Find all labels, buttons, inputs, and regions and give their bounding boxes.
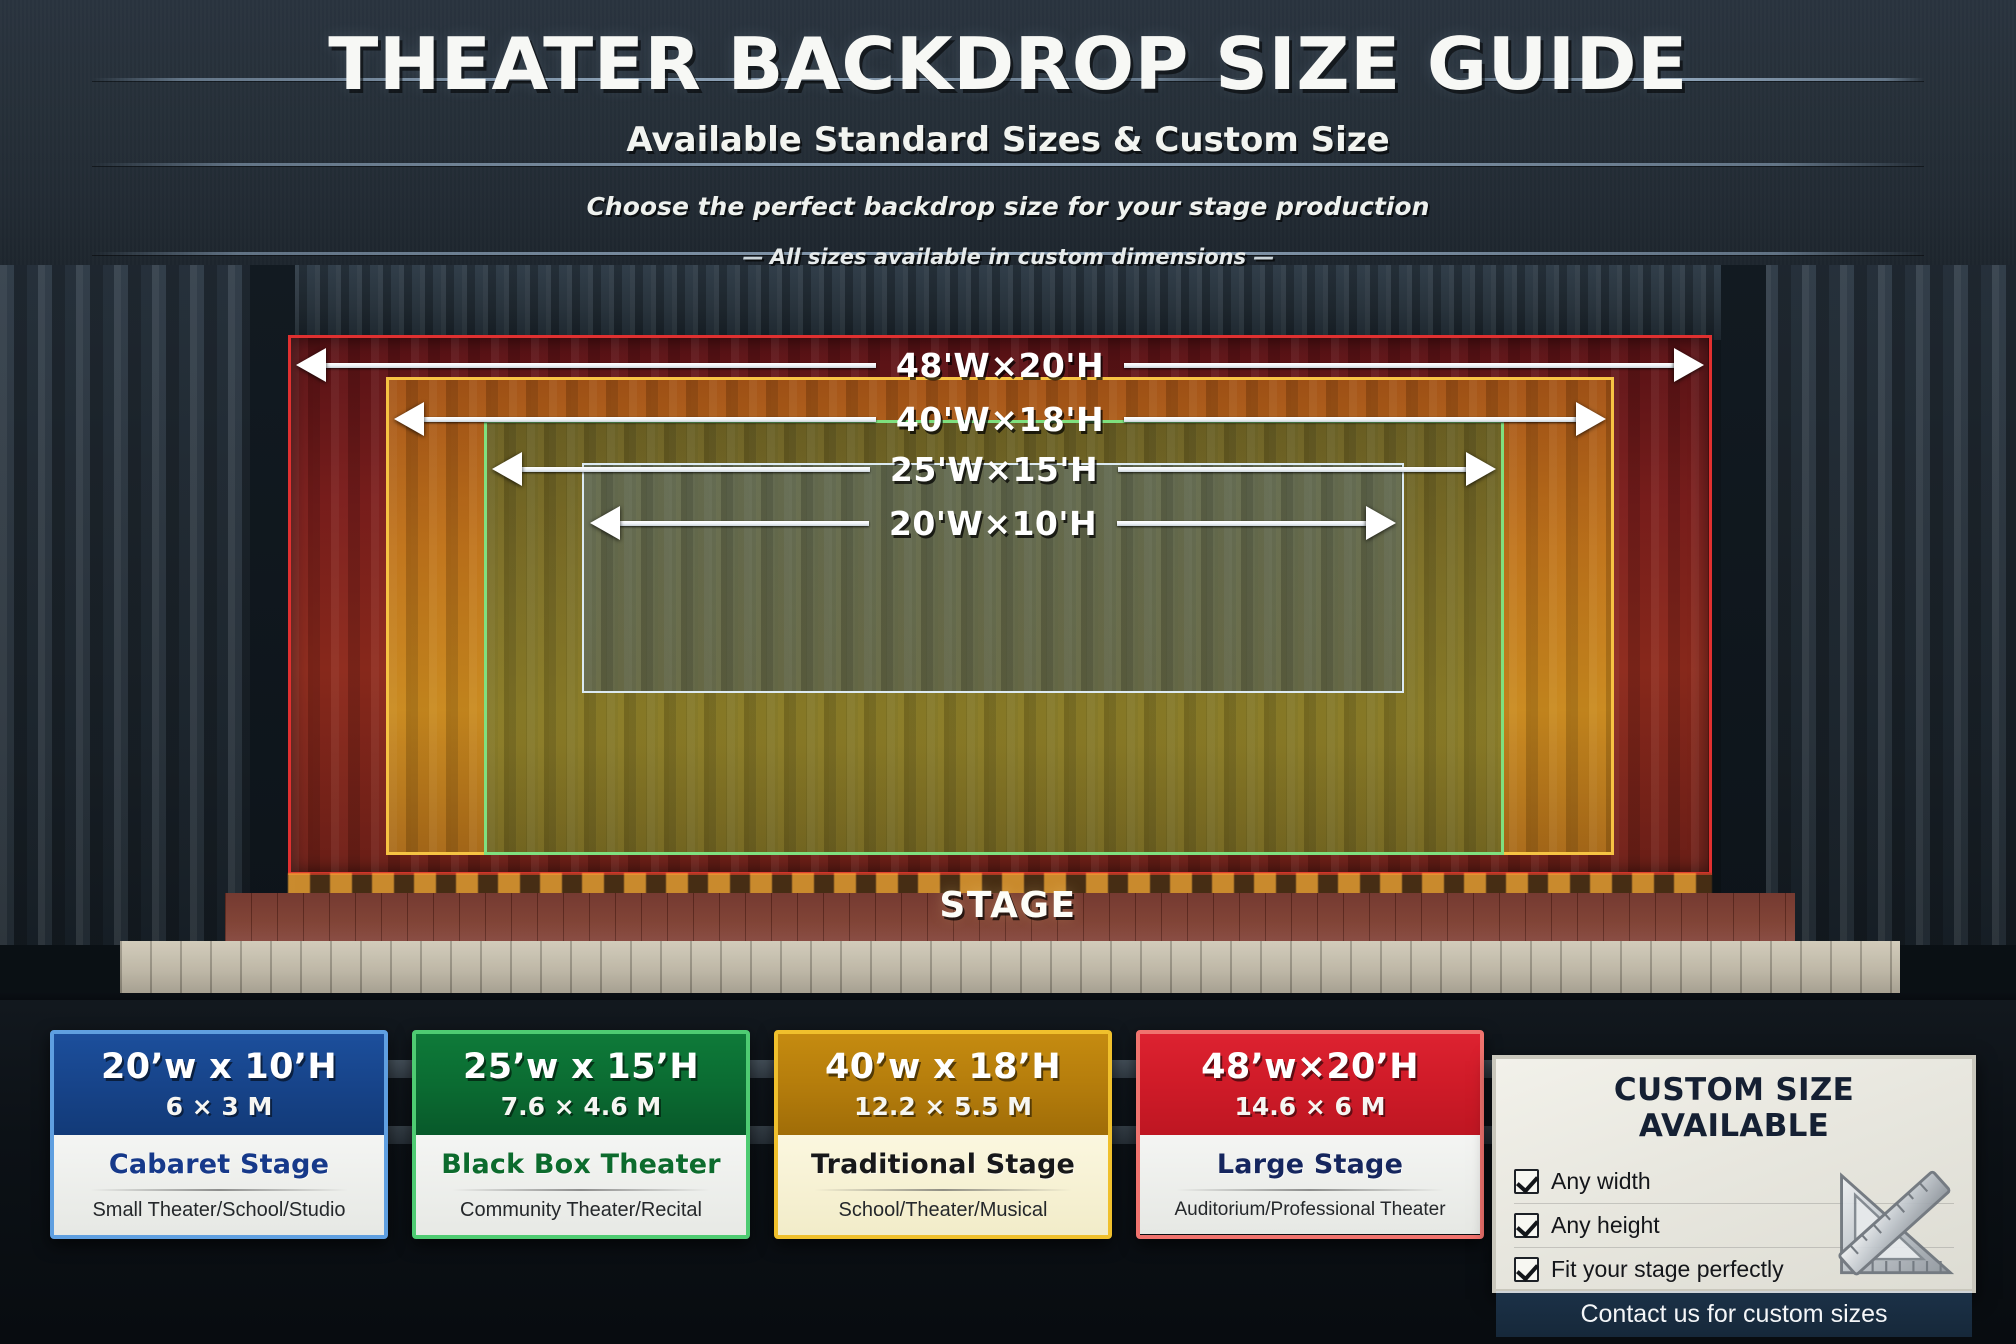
stage-floor-apron [120, 941, 1900, 995]
custom-dimensions-note: — All sizes available in custom dimensio… [0, 245, 2016, 269]
card-stage-name: Large Stage [1150, 1149, 1470, 1180]
note-dash-left-icon: — [743, 245, 763, 269]
stage-proscenium: 48'W×20'H 40'W×18'H 25'W×15'H [0, 265, 2016, 1000]
custom-feature-label: Any height [1551, 1212, 1660, 1239]
stage-floor-label: STAGE [0, 885, 2016, 926]
infographic-poster: THEATER BACKDROP SIZE GUIDE Available St… [0, 0, 2016, 1344]
custom-size-feature-list: Any width Any height Fit your stage perf… [1496, 1151, 1972, 1291]
note-text: All sizes available in custom dimensions [770, 245, 1246, 269]
page-tagline: Choose the perfect backdrop size for you… [0, 192, 2016, 221]
size-card-black-box-theater[interactable]: 25’w x 15’H 7.6 × 4.6 M Black Box Theate… [412, 1030, 750, 1239]
backdrop-rect-20x10 [582, 463, 1404, 693]
size-card-large-stage[interactable]: 48’w×20’H 14.6 × 6 M Large Stage Auditor… [1136, 1030, 1484, 1239]
card-header: 20’w x 10’H 6 × 3 M [54, 1034, 384, 1135]
card-dimension-metric: 12.2 × 5.5 M [786, 1092, 1100, 1121]
card-divider [814, 1189, 1072, 1191]
card-body: Large Stage Auditorium/Professional Thea… [1140, 1135, 1480, 1234]
card-venue-types: Small Theater/School/Studio [64, 1199, 374, 1222]
card-venue-types: Auditorium/Professional Theater [1150, 1199, 1470, 1221]
page-subtitle: Available Standard Sizes & Custom Size [0, 120, 2016, 160]
card-venue-types: School/Theater/Musical [788, 1199, 1098, 1222]
ruler-and-set-square-icon [1826, 1167, 1962, 1287]
size-card-traditional-stage[interactable]: 40’w x 18’H 12.2 × 5.5 M Traditional Sta… [774, 1030, 1112, 1239]
card-header: 40’w x 18’H 12.2 × 5.5 M [778, 1034, 1108, 1135]
custom-size-panel[interactable]: CUSTOM SIZE AVAILABLE Any width Any heig… [1492, 1055, 1976, 1293]
card-header: 48’w×20’H 14.6 × 6 M [1140, 1034, 1480, 1135]
card-dimension-imperial: 25’w x 15’H [424, 1047, 738, 1087]
card-stage-name: Traditional Stage [788, 1149, 1098, 1180]
card-venue-types: Community Theater/Recital [426, 1199, 736, 1222]
card-header: 25’w x 15’H 7.6 × 4.6 M [416, 1034, 746, 1135]
backdrop-size-comparison: 48'W×20'H 40'W×18'H 25'W×15'H [0, 265, 2016, 945]
card-dimension-imperial: 20’w x 10’H [62, 1047, 376, 1087]
card-body: Traditional Stage School/Theater/Musical [778, 1135, 1108, 1235]
card-dimension-metric: 6 × 3 M [62, 1092, 376, 1121]
custom-feature-label: Fit your stage perfectly [1551, 1256, 1784, 1283]
checkbox-checked-icon[interactable] [1514, 1213, 1539, 1238]
size-card-list: 20’w x 10’H 6 × 3 M Cabaret Stage Small … [50, 1030, 1484, 1239]
card-dimension-metric: 7.6 × 4.6 M [424, 1092, 738, 1121]
custom-size-title: CUSTOM SIZE AVAILABLE [1514, 1072, 1954, 1144]
checkbox-checked-icon[interactable] [1514, 1257, 1539, 1282]
card-dimension-metric: 14.6 × 6 M [1148, 1092, 1472, 1121]
card-divider [1176, 1189, 1444, 1191]
note-dash-right-icon: — [1253, 245, 1273, 269]
decorative-rule-mid [92, 163, 1924, 166]
card-body: Black Box Theater Community Theater/Reci… [416, 1135, 746, 1235]
card-divider [90, 1189, 348, 1191]
page-title: THEATER BACKDROP SIZE GUIDE [0, 22, 2016, 106]
card-body: Cabaret Stage Small Theater/School/Studi… [54, 1135, 384, 1235]
stage-edge-shadow [0, 993, 2016, 1000]
card-dimension-imperial: 48’w×20’H [1148, 1047, 1472, 1087]
size-card-cabaret-stage[interactable]: 20’w x 10’H 6 × 3 M Cabaret Stage Small … [50, 1030, 388, 1239]
custom-feature-label: Any width [1551, 1168, 1651, 1195]
card-dimension-imperial: 40’w x 18’H [786, 1047, 1100, 1087]
card-divider [452, 1189, 710, 1191]
checkbox-checked-icon[interactable] [1514, 1169, 1539, 1194]
card-stage-name: Black Box Theater [426, 1149, 736, 1180]
card-stage-name: Cabaret Stage [64, 1149, 374, 1180]
custom-size-contact-cta[interactable]: Contact us for custom sizes [1496, 1291, 1972, 1337]
